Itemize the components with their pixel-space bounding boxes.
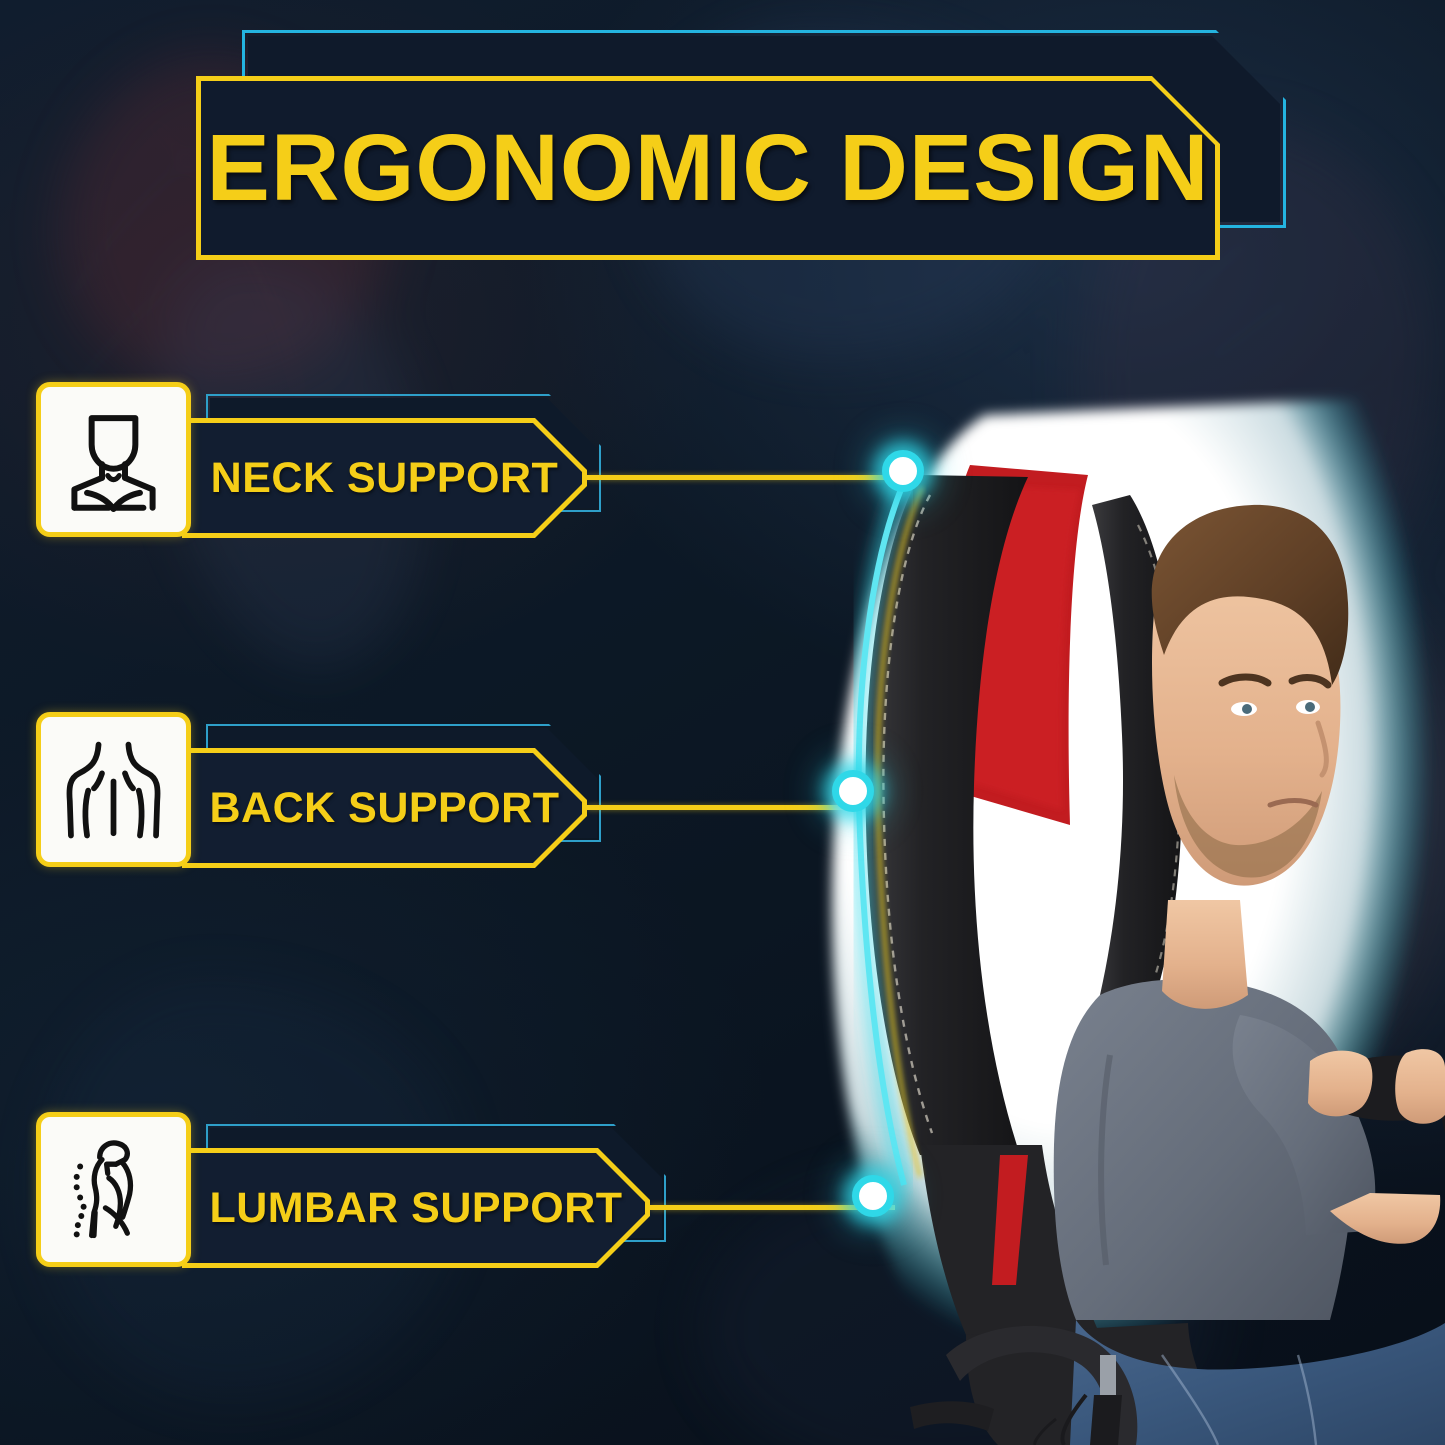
back-support-icon bbox=[56, 732, 171, 847]
back-support-icon-tile bbox=[36, 712, 191, 867]
neck-support-icon-tile bbox=[36, 382, 191, 537]
lumbar-support-marker[interactable] bbox=[852, 1175, 894, 1217]
lumbar-support-icon-tile bbox=[36, 1112, 191, 1267]
person-neck bbox=[1162, 900, 1248, 1009]
gaming-chair-photo bbox=[770, 355, 1445, 1445]
infographic-canvas: ERGONOMIC DESIGN NECK SUPPORT bbox=[0, 0, 1445, 1445]
back-support-marker[interactable] bbox=[832, 770, 874, 812]
chair-cylinder-chrome bbox=[1100, 1355, 1116, 1395]
person-right-hand bbox=[1395, 1049, 1445, 1124]
back-support-label: BACK SUPPORT bbox=[182, 748, 587, 868]
lumbar-support-icon bbox=[56, 1132, 171, 1247]
title-banner: ERGONOMIC DESIGN bbox=[196, 30, 1286, 260]
neck-support-marker[interactable] bbox=[882, 450, 924, 492]
lumbar-support-label: LUMBAR SUPPORT bbox=[182, 1148, 650, 1268]
page-title: ERGONOMIC DESIGN bbox=[196, 76, 1220, 260]
product-photo bbox=[770, 355, 1445, 1445]
chair-tilt-lever bbox=[910, 1401, 994, 1431]
chair-gas-cylinder bbox=[1090, 1395, 1122, 1445]
neck-support-icon bbox=[56, 402, 171, 517]
neck-support-label: NECK SUPPORT bbox=[182, 418, 587, 538]
